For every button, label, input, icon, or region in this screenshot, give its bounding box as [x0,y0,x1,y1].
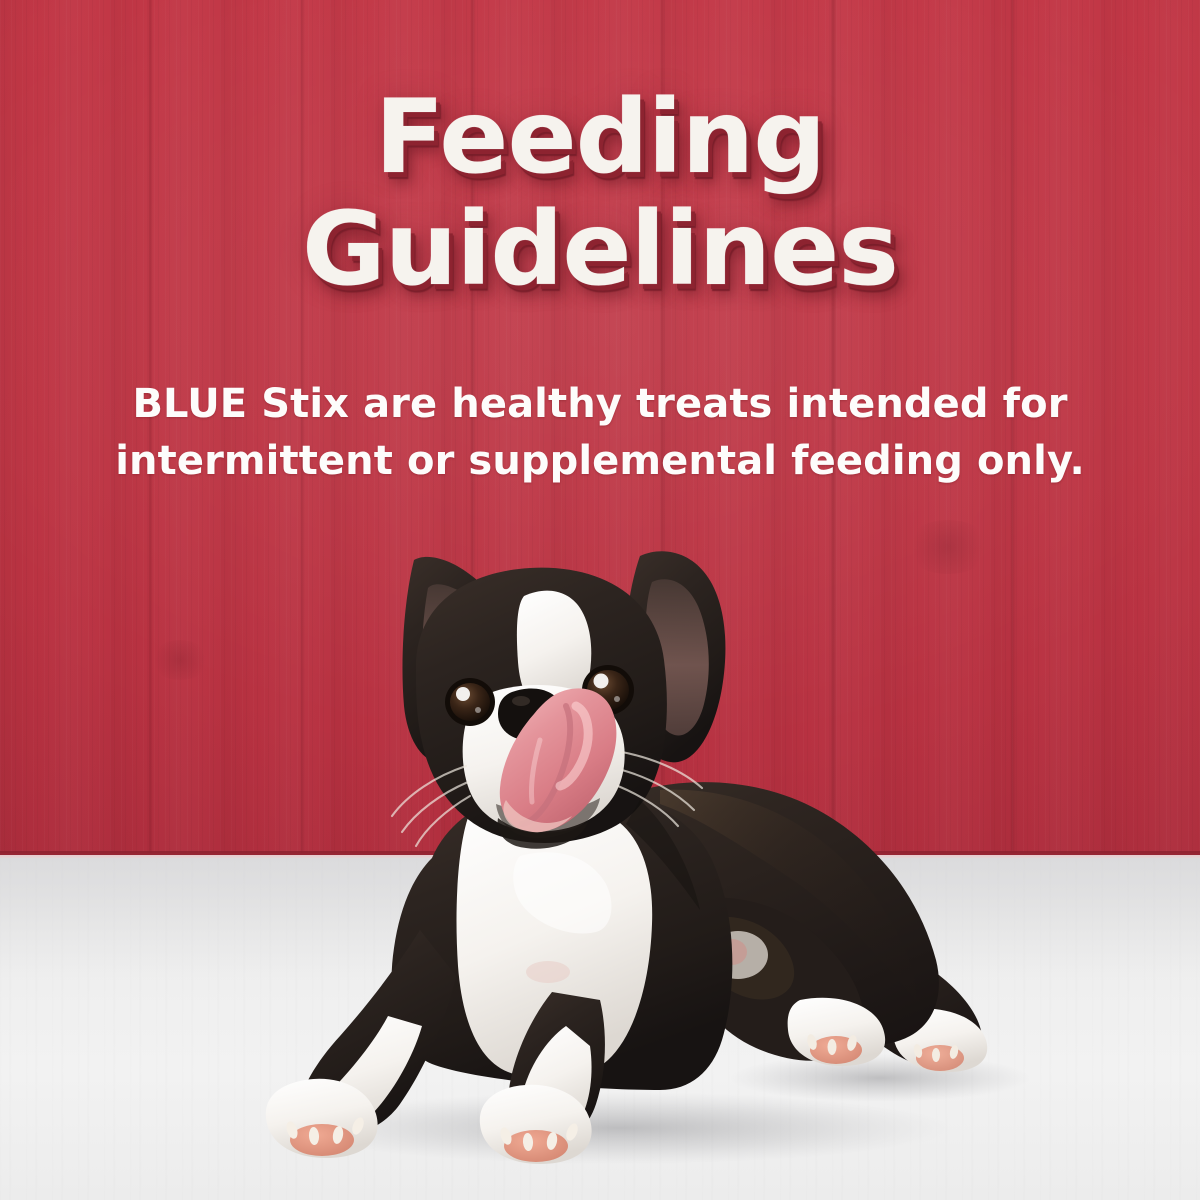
dog-eye-left [445,678,495,726]
paw-pad [290,1124,354,1156]
nose-highlight [512,696,530,706]
paw-pad [504,1130,568,1162]
chest-pink-tint [526,961,570,983]
boston-terrier-photo [0,0,1200,1200]
dog-floor-shadow [730,1054,1030,1102]
feeding-guidelines-graphic: Feeding Guidelines BLUE Stix are healthy… [0,0,1200,1200]
